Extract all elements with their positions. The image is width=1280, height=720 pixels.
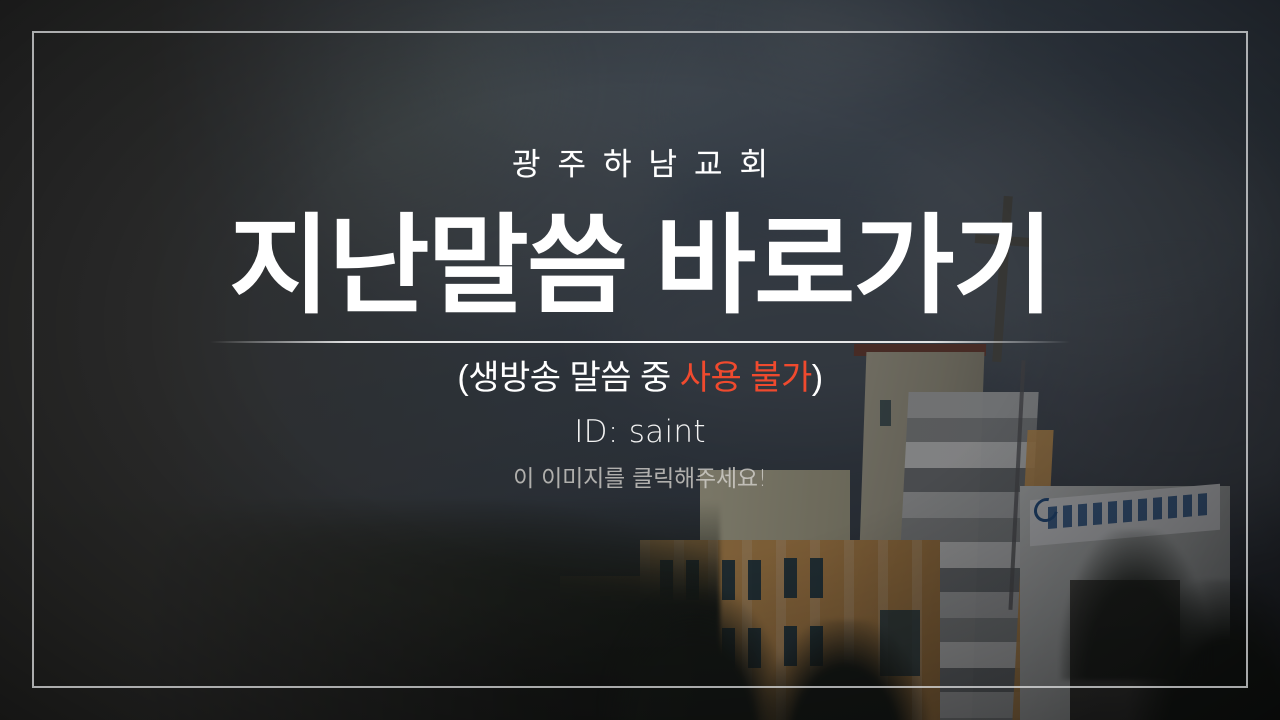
- availability-note: (생방송 말씀 중 사용 불가): [457, 360, 822, 397]
- page-title: 지난말씀 바로가기: [228, 209, 1051, 323]
- banner-content: 광주하남교회 지난말씀 바로가기 (생방송 말씀 중 사용 불가) ID: sa…: [0, 0, 1280, 720]
- title-divider: [210, 341, 1070, 343]
- click-image-cta[interactable]: 이 이미지를 클릭해주세요!: [513, 467, 767, 492]
- login-id-label: ID: saint: [574, 415, 706, 449]
- availability-note-suffix: ): [812, 359, 823, 397]
- church-name-eyebrow: 광주하남교회: [495, 150, 785, 181]
- church-promo-banner[interactable]: 광주하남교회 지난말씀 바로가기 (생방송 말씀 중 사용 불가) ID: sa…: [0, 0, 1280, 720]
- availability-note-prefix: (생방송 말씀 중: [457, 359, 679, 397]
- availability-warning-text: 사용 불가: [680, 359, 812, 397]
